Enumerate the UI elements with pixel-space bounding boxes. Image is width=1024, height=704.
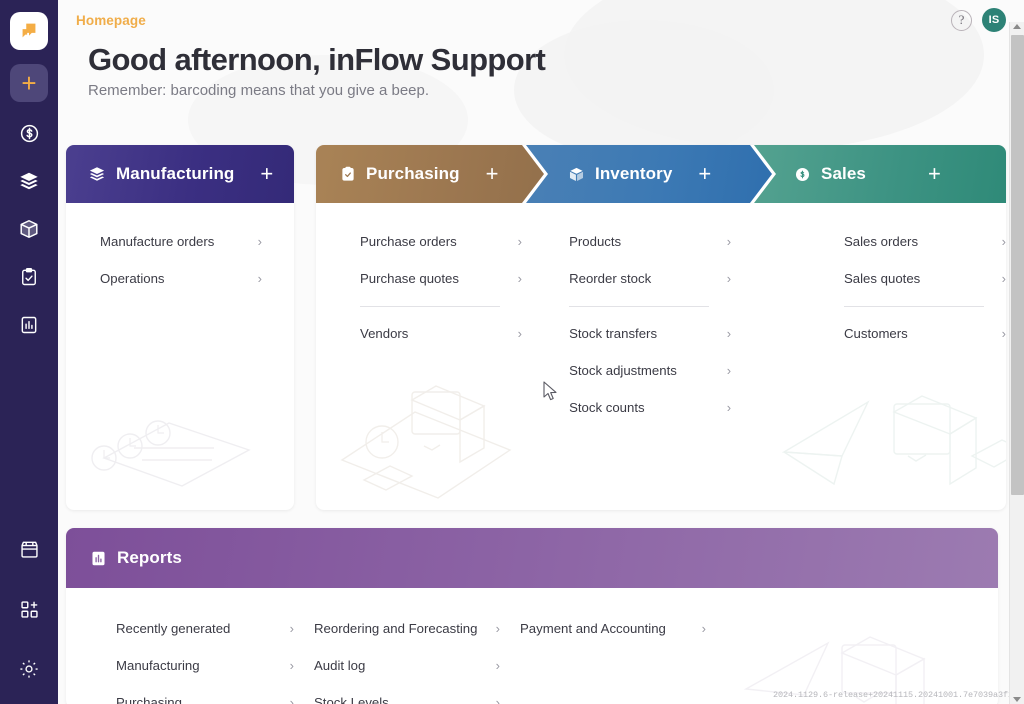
card-group-purchasing-inventory-sales: Purchasing +	[316, 145, 1006, 510]
layers-icon	[88, 165, 106, 183]
list-item[interactable]: Operations ›	[100, 260, 262, 297]
app-version-label: 2024.1129.6-release+20241115.20241001.7e…	[773, 690, 1018, 700]
cloud-decoration-2	[514, 20, 774, 160]
column-purchasing: Purchase orders › Purchase quotes › Vend…	[316, 203, 543, 510]
list-item[interactable]: Products ›	[569, 223, 731, 260]
list-item-label: Stock Levels	[314, 695, 389, 704]
page-subtitle: Remember: barcoding means that you give …	[88, 82, 545, 99]
reports-column-3: Payment and Accounting ›	[500, 610, 706, 704]
list-item-label: Sales orders	[844, 234, 918, 249]
sidebar-item-settings[interactable]	[12, 652, 46, 686]
card-header-sales[interactable]: Sales +	[754, 145, 1006, 203]
chevron-right-icon: ›	[686, 621, 706, 636]
top-bar: Homepage ? IS	[58, 0, 1024, 40]
list-item-label: Manufacture orders	[100, 234, 214, 249]
sidebar-item-purchasing[interactable]	[12, 260, 46, 294]
chevron-right-icon: ›	[258, 271, 262, 286]
reports-column-2: Reordering and Forecasting › Audit log ›…	[294, 610, 500, 704]
add-new-icon[interactable]: +	[10, 64, 48, 102]
list-item[interactable]: Customers ›	[844, 315, 1006, 352]
list-item[interactable]: Sales quotes ›	[844, 260, 1006, 297]
card-header-reports[interactable]: Reports	[66, 528, 998, 588]
list-item-label: Customers	[844, 326, 908, 341]
list-item[interactable]: Stock Levels ›	[314, 684, 500, 704]
chevron-right-icon: ›	[1002, 234, 1006, 249]
inflow-logo-icon[interactable]	[10, 12, 48, 50]
scroll-up-arrow-icon[interactable]	[1013, 24, 1021, 29]
list-item-label: Operations	[100, 271, 165, 286]
card-reports: Reports Recently generated ›	[66, 528, 998, 704]
scrollbar-thumb[interactable]	[1011, 35, 1024, 495]
chevron-right-icon: ›	[274, 658, 294, 673]
list-item[interactable]: Purchasing ›	[116, 684, 294, 704]
list-item[interactable]: Manufacture orders ›	[100, 223, 262, 260]
chevron-right-icon: ›	[1002, 326, 1006, 341]
list-item-label: Sales quotes	[844, 271, 920, 286]
chevron-right-icon: ›	[518, 234, 522, 249]
card-title-purchasing: Purchasing	[366, 164, 460, 184]
box-icon	[568, 166, 585, 183]
list-item-label: Stock transfers	[569, 326, 657, 341]
left-nav-sidebar: +	[0, 0, 58, 704]
list-item[interactable]: Sales orders ›	[844, 223, 1006, 260]
list-item-label: Stock counts	[569, 400, 645, 415]
card-group-header: Purchasing +	[316, 145, 1006, 203]
list-item-label: Purchase orders	[360, 234, 457, 249]
sidebar-item-sales[interactable]	[12, 116, 46, 150]
card-group-body: Purchase orders › Purchase quotes › Vend…	[316, 203, 1006, 510]
vertical-scrollbar[interactable]	[1009, 22, 1024, 704]
card-title-reports: Reports	[117, 548, 182, 568]
card-body-manufacturing: Manufacture orders › Operations ›	[66, 203, 294, 510]
page-title: Good afternoon, inFlow Support	[88, 42, 545, 78]
sidebar-item-showroom[interactable]	[12, 532, 46, 566]
manufacturing-illustration	[74, 388, 274, 498]
module-cards: Manufacturing + Manufacture orders › Ope…	[66, 145, 1016, 510]
list-item[interactable]: Manufacturing ›	[116, 647, 294, 684]
dollar-circle-icon	[794, 166, 811, 183]
card-title-inventory: Inventory	[595, 164, 672, 184]
list-item[interactable]: Reordering and Forecasting ›	[314, 610, 500, 647]
help-icon[interactable]: ?	[951, 10, 972, 31]
chevron-right-icon: ›	[274, 621, 294, 636]
list-item-label: Purchase quotes	[360, 271, 459, 286]
list-item-label: Reordering and Forecasting	[314, 621, 477, 636]
card-header-manufacturing[interactable]: Manufacturing +	[66, 145, 294, 203]
chevron-right-icon: ›	[727, 400, 731, 415]
chevron-right-icon: ›	[1002, 271, 1006, 286]
sidebar-item-inventory[interactable]	[12, 212, 46, 246]
card-title-manufacturing: Manufacturing	[116, 164, 234, 184]
sidebar-item-manufacturing[interactable]	[12, 164, 46, 198]
greeting-block: Good afternoon, inFlow Support Remember:…	[88, 42, 545, 99]
card-header-inventory[interactable]: Inventory +	[526, 145, 772, 203]
list-item[interactable]: Stock counts ›	[569, 389, 731, 426]
list-item-label: Stock adjustments	[569, 363, 677, 378]
list-item[interactable]: Purchase orders ›	[360, 223, 522, 260]
chevron-right-icon: ›	[727, 271, 731, 286]
bar-chart-icon	[90, 550, 107, 567]
list-item-label: Manufacturing	[116, 658, 200, 673]
scroll-down-arrow-icon[interactable]	[1013, 697, 1021, 702]
list-divider	[569, 306, 709, 307]
list-item-label: Reorder stock	[569, 271, 651, 286]
add-purchasing-icon[interactable]: +	[486, 163, 499, 185]
list-item[interactable]: Stock adjustments ›	[569, 352, 731, 389]
sidebar-item-reports[interactable]	[12, 308, 46, 342]
list-item[interactable]: Recently generated ›	[116, 610, 294, 647]
chevron-right-icon: ›	[727, 363, 731, 378]
card-body-reports: Recently generated › Manufacturing › Pur…	[66, 588, 998, 704]
chevron-right-icon: ›	[258, 234, 262, 249]
list-item[interactable]: Stock transfers ›	[569, 315, 731, 352]
list-divider	[360, 306, 500, 307]
list-item-label: Purchasing	[116, 695, 182, 704]
add-inventory-icon[interactable]: +	[698, 163, 711, 185]
column-sales: Sales orders › Sales quotes › Customers …	[788, 203, 1006, 510]
avatar[interactable]: IS	[982, 8, 1006, 32]
list-item-label: Payment and Accounting	[520, 621, 666, 636]
chevron-right-icon: ›	[727, 326, 731, 341]
breadcrumb[interactable]: Homepage	[76, 13, 146, 28]
chevron-right-icon: ›	[518, 326, 522, 341]
card-header-purchasing[interactable]: Purchasing +	[316, 145, 544, 203]
chevron-right-icon: ›	[480, 695, 500, 704]
clipboard-check-icon	[340, 166, 356, 182]
list-item[interactable]: Reorder stock ›	[569, 260, 731, 297]
add-manufacturing-icon[interactable]: +	[260, 163, 273, 185]
chevron-right-icon: ›	[274, 695, 294, 704]
homepage-screen: +	[0, 0, 1024, 704]
mouse-cursor	[543, 381, 559, 403]
card-manufacturing: Manufacturing + Manufacture orders › Ope…	[66, 145, 294, 510]
list-item[interactable]: Purchase quotes ›	[360, 260, 522, 297]
column-inventory: Products › Reorder stock › Stock transfe…	[543, 203, 788, 510]
sidebar-item-integrations[interactable]	[12, 592, 46, 626]
chevron-right-icon: ›	[480, 621, 500, 636]
main-content: Homepage ? IS Good afternoon, inFlow Sup…	[58, 0, 1024, 704]
list-item-label: Products	[569, 234, 621, 249]
add-sales-icon[interactable]: +	[928, 163, 941, 185]
list-item[interactable]: Vendors ›	[360, 315, 522, 352]
chevron-right-icon: ›	[480, 658, 500, 673]
list-item-label: Vendors	[360, 326, 408, 341]
card-title-sales: Sales	[821, 164, 866, 184]
list-item-label: Audit log	[314, 658, 365, 673]
list-divider	[844, 306, 984, 307]
chevron-right-icon: ›	[518, 271, 522, 286]
reports-column-1: Recently generated › Manufacturing › Pur…	[66, 610, 294, 704]
chevron-right-icon: ›	[727, 234, 731, 249]
list-item[interactable]: Payment and Accounting ›	[520, 610, 706, 647]
list-item[interactable]: Audit log ›	[314, 647, 500, 684]
list-item-label: Recently generated	[116, 621, 230, 636]
